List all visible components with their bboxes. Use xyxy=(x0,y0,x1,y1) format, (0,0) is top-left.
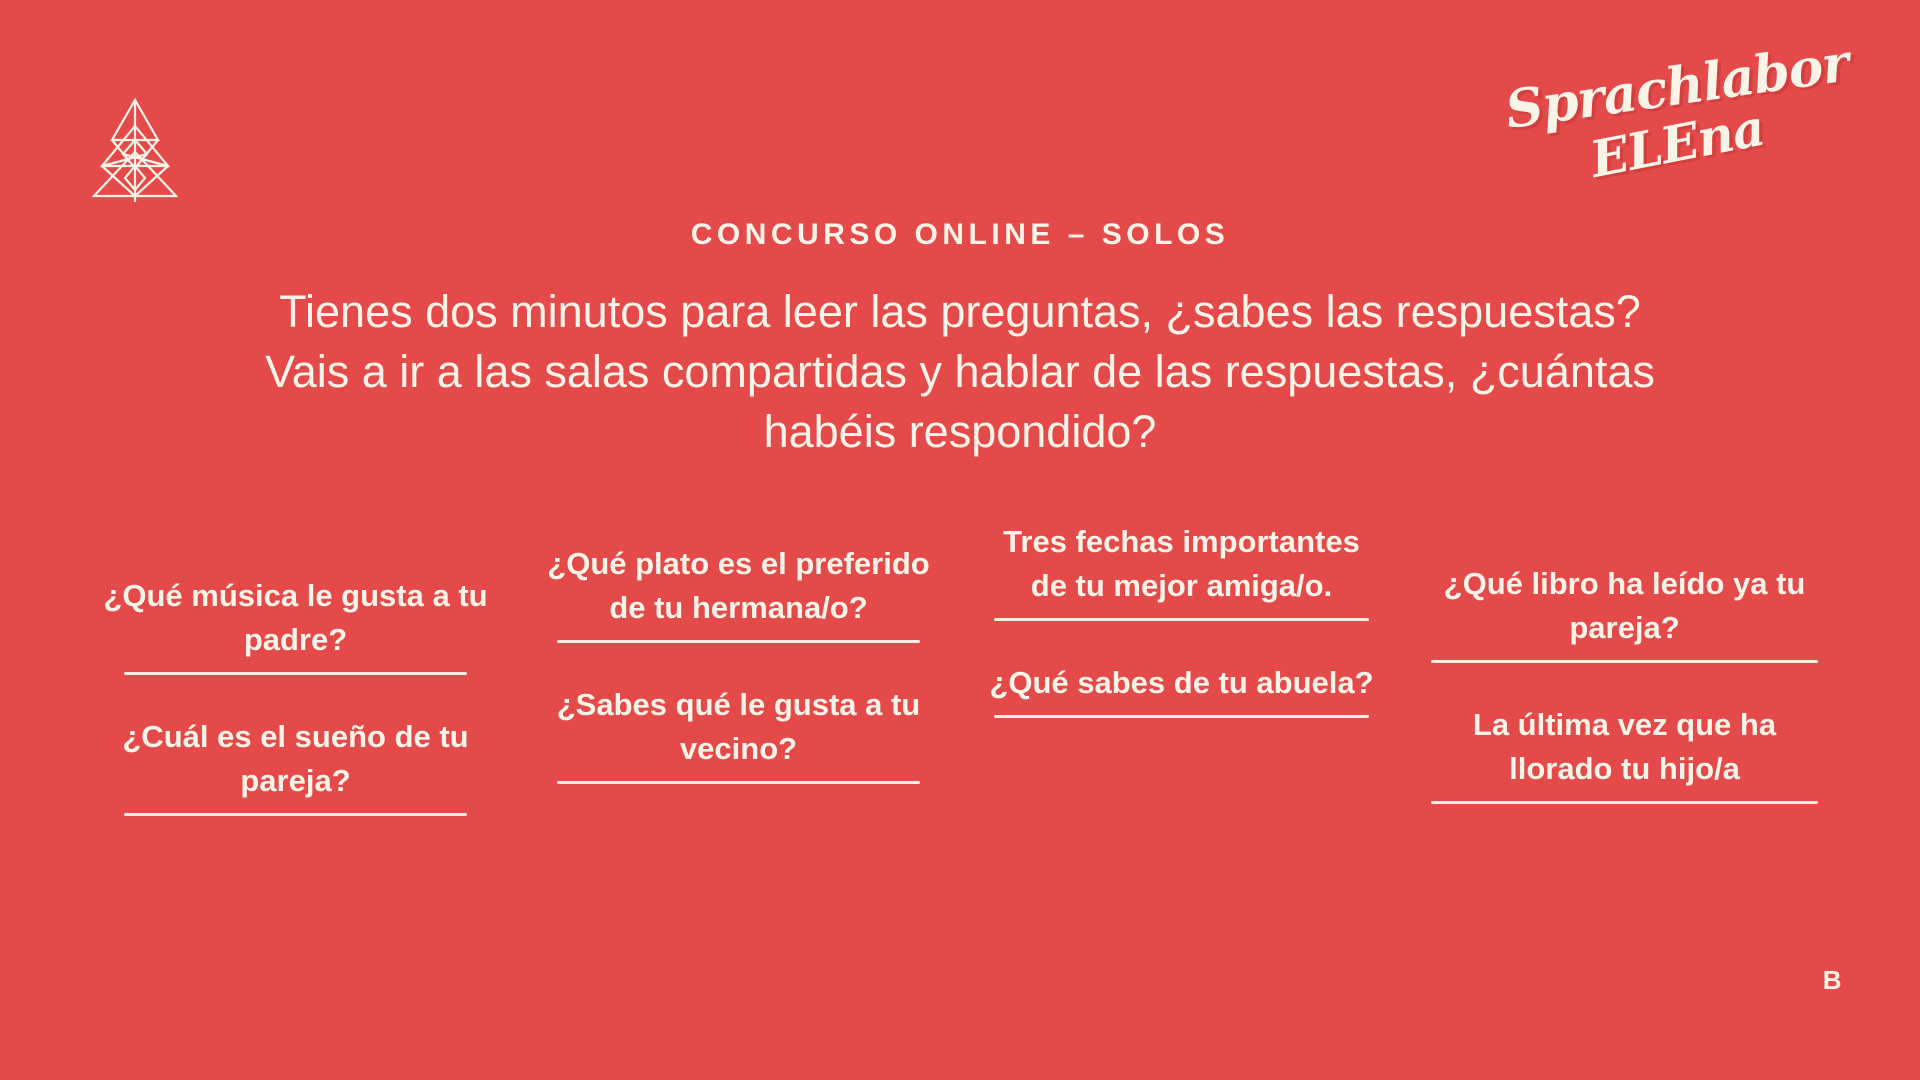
question-block: ¿Qué libro ha leído ya tu pareja? xyxy=(1425,562,1824,663)
page-mark: B xyxy=(1823,965,1842,996)
question-block: La última vez que ha llorado tu hijo/a xyxy=(1425,703,1824,804)
answer-rule[interactable] xyxy=(557,781,920,784)
question-text: Tres fechas importantes de tu mejor amig… xyxy=(982,520,1381,618)
question-text: ¿Qué música le gusta a tu padre? xyxy=(96,574,495,672)
answer-rule[interactable] xyxy=(557,640,920,643)
question-text: La última vez que ha llorado tu hijo/a xyxy=(1425,703,1824,801)
intro-line-3: habéis respondido? xyxy=(100,402,1820,462)
question-column-2: ¿Qué plato es el preferido de tu hermana… xyxy=(539,520,938,816)
question-grid: ¿Qué música le gusta a tu padre? ¿Cuál e… xyxy=(96,520,1824,816)
answer-rule[interactable] xyxy=(994,618,1369,621)
answer-rule[interactable] xyxy=(994,715,1369,718)
answer-rule[interactable] xyxy=(124,672,467,675)
answer-rule[interactable] xyxy=(1431,660,1818,663)
brand-logo: Sprachlabor ELEna xyxy=(1502,40,1847,217)
answer-rule[interactable] xyxy=(124,813,467,816)
question-block: ¿Cuál es el sueño de tu pareja? xyxy=(96,715,495,816)
question-text: ¿Qué plato es el preferido de tu hermana… xyxy=(539,542,938,640)
question-text: ¿Cuál es el sueño de tu pareja? xyxy=(96,715,495,813)
slide-kicker: CONCURSO ONLINE – SOLOS xyxy=(0,218,1920,252)
question-block: ¿Qué sabes de tu abuela? xyxy=(982,661,1381,718)
question-text: ¿Qué sabes de tu abuela? xyxy=(982,661,1381,715)
geometric-fir-tree-icon xyxy=(92,96,178,202)
question-column-3: Tres fechas importantes de tu mejor amig… xyxy=(982,520,1381,816)
intro-line-2: Vais a ir a las salas compartidas y habl… xyxy=(100,342,1820,402)
question-block: ¿Qué música le gusta a tu padre? xyxy=(96,574,495,675)
question-text: ¿Qué libro ha leído ya tu pareja? xyxy=(1425,562,1824,660)
slide-canvas: Sprachlabor ELEna CONCURSO ONLINE – SOLO… xyxy=(0,0,1920,1080)
intro-line-1: Tienes dos minutos para leer las pregunt… xyxy=(100,282,1820,342)
answer-rule[interactable] xyxy=(1431,801,1818,804)
question-block: ¿Qué plato es el preferido de tu hermana… xyxy=(539,542,938,643)
question-column-4: ¿Qué libro ha leído ya tu pareja? La últ… xyxy=(1425,520,1824,816)
slide-intro: Tienes dos minutos para leer las pregunt… xyxy=(100,282,1820,462)
question-column-1: ¿Qué música le gusta a tu padre? ¿Cuál e… xyxy=(96,520,495,816)
question-text: ¿Sabes qué le gusta a tu vecino? xyxy=(539,683,938,781)
question-block: Tres fechas importantes de tu mejor amig… xyxy=(982,520,1381,621)
question-block: ¿Sabes qué le gusta a tu vecino? xyxy=(539,683,938,784)
